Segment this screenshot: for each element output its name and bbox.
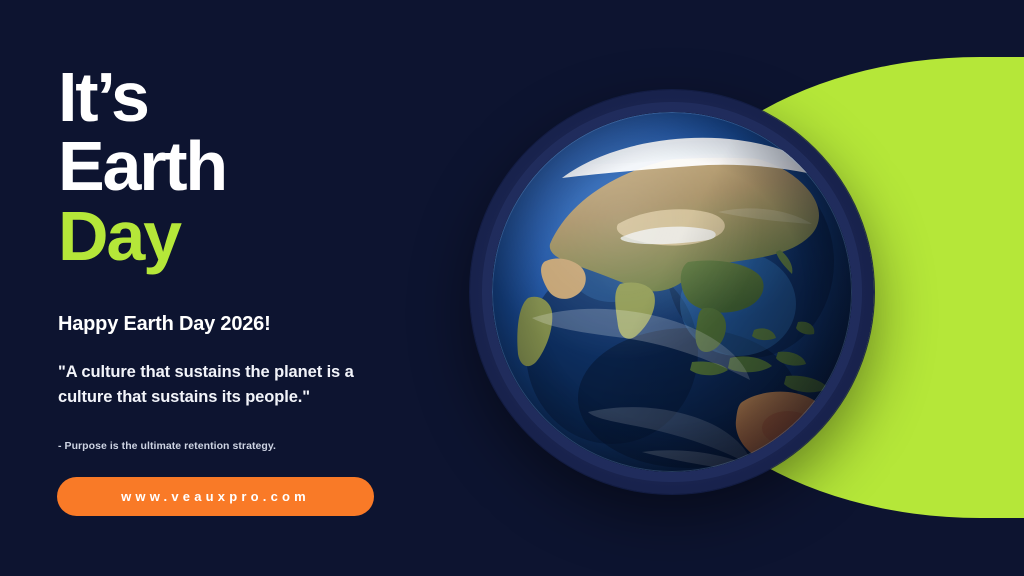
headline-line-1: It’s — [58, 63, 226, 132]
headline-line-2: Earth — [58, 132, 226, 201]
greeting-text: Happy Earth Day 2026! — [58, 313, 271, 336]
headline-line-3: Day — [58, 202, 226, 271]
website-cta-button[interactable]: www.veauxpro.com — [57, 477, 374, 516]
page-title: It’s Earth Day — [58, 63, 226, 271]
earth-globe-graphic — [470, 90, 874, 494]
quote-text: "A culture that sustains the planet is a… — [58, 360, 358, 410]
attribution-text: - Purpose is the ultimate retention stra… — [58, 440, 276, 452]
earth-globe — [492, 112, 852, 472]
content-column: It’s Earth Day Happy Earth Day 2026! "A … — [0, 0, 420, 576]
earth-day-poster: It’s Earth Day Happy Earth Day 2026! "A … — [0, 0, 1024, 576]
